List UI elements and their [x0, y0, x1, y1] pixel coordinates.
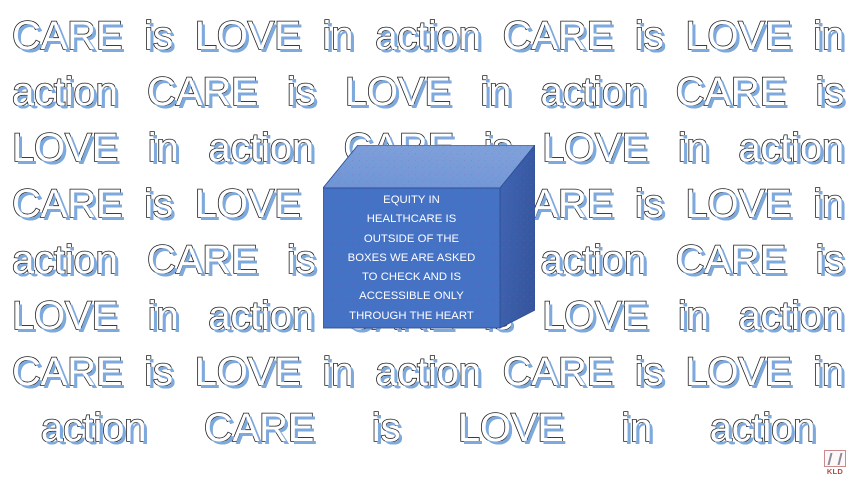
background-word: in [678, 120, 709, 176]
background-word: is [287, 64, 316, 120]
background-word: in [148, 288, 179, 344]
background-word: action [208, 120, 314, 176]
background-word: CARE [12, 8, 122, 64]
background-word: action [12, 64, 118, 120]
background-word: is [635, 176, 664, 232]
background-word: is [144, 176, 173, 232]
background-word: in [678, 288, 709, 344]
background-word: is [815, 232, 844, 288]
background-word: in [480, 64, 511, 120]
background-word: LOVE [685, 176, 791, 232]
watermark-logo: KLD [821, 450, 849, 477]
background-text-line: CARE is LOVE in action CARE is LOVE in [12, 8, 844, 64]
background-word: LOVE [345, 64, 451, 120]
background-word: action [541, 232, 647, 288]
background-word: is [144, 344, 173, 400]
background-word: in [323, 344, 354, 400]
background-word: action [738, 120, 844, 176]
background-word: in [148, 120, 179, 176]
background-word: CARE [12, 176, 122, 232]
background-word: action [375, 344, 481, 400]
background-word: LOVE [195, 8, 301, 64]
cube-message-line: THROUGH THE HEART [349, 307, 474, 326]
background-word: action [541, 64, 647, 120]
logo-mark-icon [824, 450, 846, 467]
background-word: LOVE [458, 400, 564, 456]
logo-text: KLD [821, 467, 849, 476]
background-word: CARE [676, 64, 786, 120]
cube-message-line: OUTSIDE OF THE [364, 230, 459, 249]
background-word: in [813, 176, 844, 232]
background-word: LOVE [542, 288, 648, 344]
background-word: LOVE [195, 344, 301, 400]
background-word: CARE [503, 8, 613, 64]
background-word: LOVE [685, 344, 791, 400]
background-word: in [323, 8, 354, 64]
background-word: CARE [12, 344, 122, 400]
background-word: is [815, 64, 844, 120]
cube-message-line: BOXES WE ARE ASKED [348, 249, 476, 268]
slide-canvas: CARE is LOVE in action CARE is LOVE in a… [0, 0, 853, 480]
background-word: LOVE [195, 176, 301, 232]
background-word: in [813, 344, 844, 400]
cube-message-line: HEALTHCARE IS [367, 210, 457, 229]
background-word: is [635, 8, 664, 64]
background-word: in [813, 8, 844, 64]
background-word: LOVE [12, 120, 118, 176]
background-word: is [372, 400, 401, 456]
background-word: is [144, 8, 173, 64]
background-word: CARE [147, 232, 257, 288]
background-word: action [41, 400, 147, 456]
cube-message-line: EQUITY IN [383, 191, 440, 210]
background-word: action [375, 8, 481, 64]
background-word: action [12, 232, 118, 288]
background-word: action [710, 400, 816, 456]
cube-message-line: ACCESSIBLE ONLY [359, 287, 464, 306]
background-word: action [208, 288, 314, 344]
background-word: LOVE [12, 288, 118, 344]
background-word: is [287, 232, 316, 288]
background-word: CARE [503, 344, 613, 400]
cube-shape[interactable]: EQUITY IN HEALTHCARE IS OUTSIDE OF THE B… [323, 145, 535, 347]
background-text-line: action CARE is LOVE in action [12, 400, 844, 456]
background-text-line: CARE is LOVE in action CARE is LOVE in [12, 344, 844, 400]
cube-message: EQUITY IN HEALTHCARE IS OUTSIDE OF THE B… [323, 188, 500, 328]
background-word: action [738, 288, 844, 344]
background-word: in [621, 400, 652, 456]
background-word: LOVE [542, 120, 648, 176]
background-word: CARE [204, 400, 314, 456]
background-word: CARE [147, 64, 257, 120]
cube-message-line: TO CHECK AND IS [362, 268, 461, 287]
background-text-line: action CARE is LOVE in action CARE is [12, 64, 844, 120]
background-word: LOVE [685, 8, 791, 64]
background-word: CARE [676, 232, 786, 288]
background-word: is [635, 344, 664, 400]
